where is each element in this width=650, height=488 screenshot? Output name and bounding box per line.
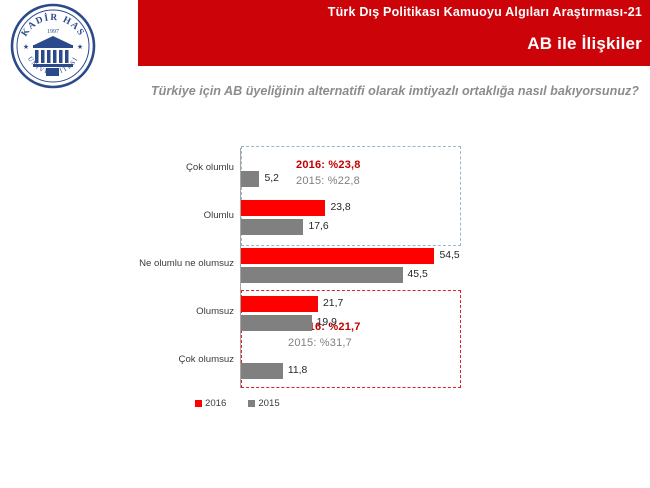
- chart-row: Çok olumsuz 11,8: [130, 340, 470, 388]
- bar-value-2016: 23,8: [330, 200, 350, 216]
- bar-value-2015: 19,9: [317, 315, 337, 331]
- bar-value-2015: 45,5: [408, 267, 428, 283]
- bar-2015: [241, 219, 303, 235]
- category-label: Ne olumlu ne olumsuz: [130, 258, 234, 270]
- legend-label-2015: 2015: [258, 398, 279, 409]
- page-title: Türk Dış Politikası Kamuoyu Algıları Ara…: [328, 5, 642, 19]
- legend-item-2015: 2015: [248, 398, 279, 409]
- bar-2015: [241, 315, 312, 331]
- bar-chart: 2016: %23,8 2015: %22,8 2016: %21,7 2015…: [130, 148, 470, 423]
- bar-2016: [241, 248, 434, 264]
- legend-item-2016: 2016: [195, 398, 226, 409]
- page-subtitle: AB ile İlişkiler: [527, 34, 642, 54]
- category-label: Olumlu: [130, 210, 234, 222]
- svg-text:1997: 1997: [47, 29, 59, 35]
- svg-text:★: ★: [23, 43, 29, 51]
- chart-row: Olumlu 23,8 17,6: [130, 196, 470, 244]
- chart-row: Olumsuz 21,7 19,9: [130, 292, 470, 340]
- category-label: Olumsuz: [130, 306, 234, 318]
- survey-question: Türkiye için AB üyeliğinin alternatifi o…: [150, 82, 640, 100]
- category-label: Çok olumlu: [130, 162, 234, 174]
- chart-row: Çok olumlu 5,2: [130, 148, 470, 196]
- legend-swatch-2015: [248, 400, 255, 407]
- bar-value-2015: 17,6: [308, 219, 328, 235]
- bar-2016: [241, 200, 325, 216]
- bar-value-2015: 11,8: [288, 363, 307, 379]
- chart-legend: 2016 2015: [195, 398, 280, 409]
- category-label: Çok olumsuz: [130, 354, 234, 366]
- bar-value-2016: 54,5: [439, 248, 459, 264]
- bar-2015: [241, 363, 283, 379]
- kadir-has-seal-icon: KADİR HAS ÜNİVERSİTESİ 1997 ★ ★: [10, 3, 96, 89]
- svg-text:★: ★: [77, 43, 83, 51]
- legend-swatch-2016: [195, 400, 202, 407]
- bar-2016: [241, 296, 318, 312]
- bar-2015: [241, 267, 403, 283]
- university-logo: KADİR HAS ÜNİVERSİTESİ 1997 ★ ★: [10, 3, 96, 89]
- bar-value-2016: 21,7: [323, 296, 343, 312]
- bar-value-2015: 5,2: [264, 171, 278, 187]
- chart-row: Ne olumlu ne olumsuz 54,5 45,5: [130, 244, 470, 292]
- legend-label-2016: 2016: [205, 398, 226, 409]
- bar-2015: [241, 171, 259, 187]
